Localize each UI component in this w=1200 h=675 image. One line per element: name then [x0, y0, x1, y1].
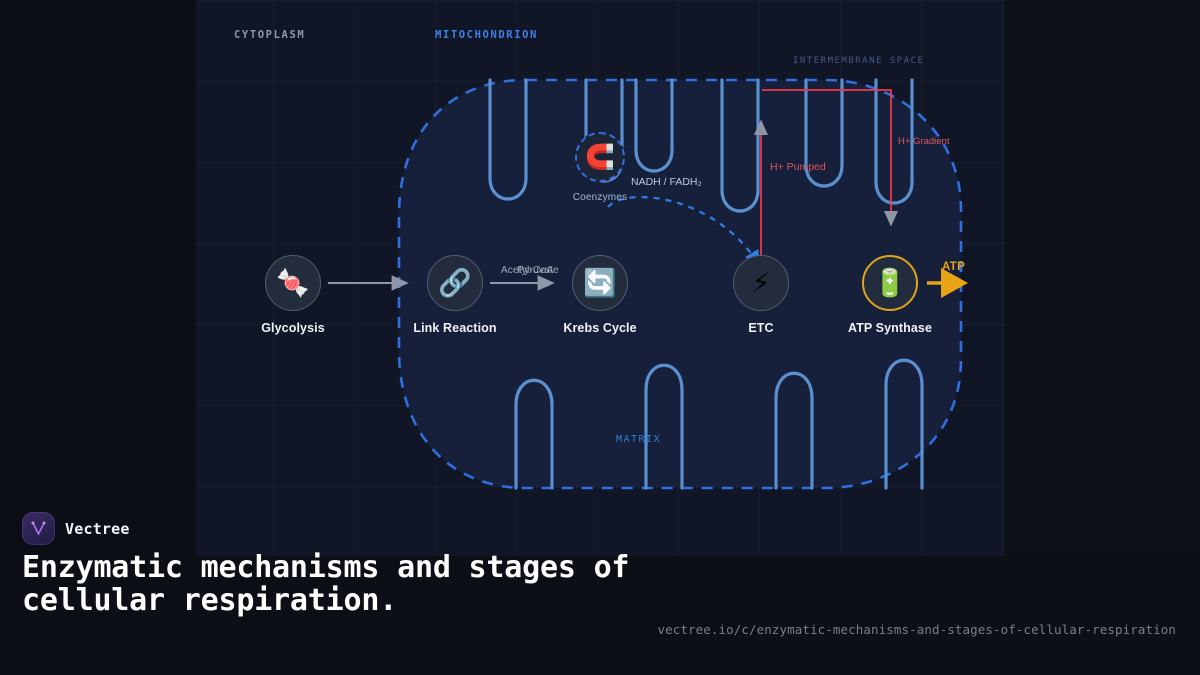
vectree-logo-icon: [22, 512, 55, 545]
node-label-krebs-cycle: Krebs Cycle: [544, 321, 656, 335]
node-label-link-reaction: Link Reaction: [399, 321, 511, 335]
brand-lockup: Vectree: [22, 512, 130, 545]
battery-icon: 🔋: [862, 255, 918, 311]
right-gutter: [1005, 0, 1200, 556]
node-label-atp-synthase: ATP Synthase: [834, 321, 946, 335]
node-krebs-cycle[interactable]: 🔄 Krebs Cycle: [544, 255, 656, 335]
node-etc[interactable]: ⚡ ETC: [705, 255, 817, 335]
magnet-icon: 🧲: [575, 132, 625, 182]
zone-label-matrix: MATRIX: [616, 434, 661, 445]
page-title: Enzymatic mechanisms and stages of cellu…: [22, 551, 662, 617]
candy-icon: 🍬: [265, 255, 321, 311]
node-coenzymes[interactable]: 🧲 Coenzymes: [544, 132, 656, 203]
zone-label-cytoplasm: CYTOPLASM: [234, 29, 305, 41]
respiration-diagram-panel: CYTOPLASM MITOCHONDRION INTERMEMBRANE SP…: [196, 0, 1005, 556]
edge-label-nadh-fadh2: NADH / FADH₂: [631, 176, 702, 188]
edge-label-h-gradient: H+ Gradient: [898, 136, 950, 147]
node-label-etc: ETC: [705, 321, 817, 335]
edge-label-h-pumped: H+ Pumped: [770, 161, 826, 173]
page-root: CYTOPLASM MITOCHONDRION INTERMEMBRANE SP…: [0, 0, 1200, 675]
edge-label-atp: ATP: [942, 261, 965, 273]
node-glycolysis[interactable]: 🍬 Glycolysis: [237, 255, 349, 335]
chain-link-icon: 🔗: [427, 255, 483, 311]
left-gutter: [0, 0, 196, 556]
brand-name: Vectree: [65, 520, 130, 538]
node-label-glycolysis: Glycolysis: [237, 321, 349, 335]
node-atp-synthase[interactable]: 🔋 ATP Synthase: [834, 255, 946, 335]
node-link-reaction[interactable]: 🔗 Link Reaction: [399, 255, 511, 335]
cycle-arrows-icon: 🔄: [572, 255, 628, 311]
zone-label-intermembrane-space: INTERMEMBRANE SPACE: [793, 56, 924, 66]
node-label-coenzymes: Coenzymes: [544, 192, 656, 203]
lightning-bolt-icon: ⚡: [733, 255, 789, 311]
edge-label-acetyl-coa: Acetyl-CoA: [501, 264, 554, 276]
share-url: vectree.io/c/enzymatic-mechanisms-and-st…: [657, 622, 1176, 637]
zone-label-mitochondrion: MITOCHONDRION: [435, 29, 538, 41]
